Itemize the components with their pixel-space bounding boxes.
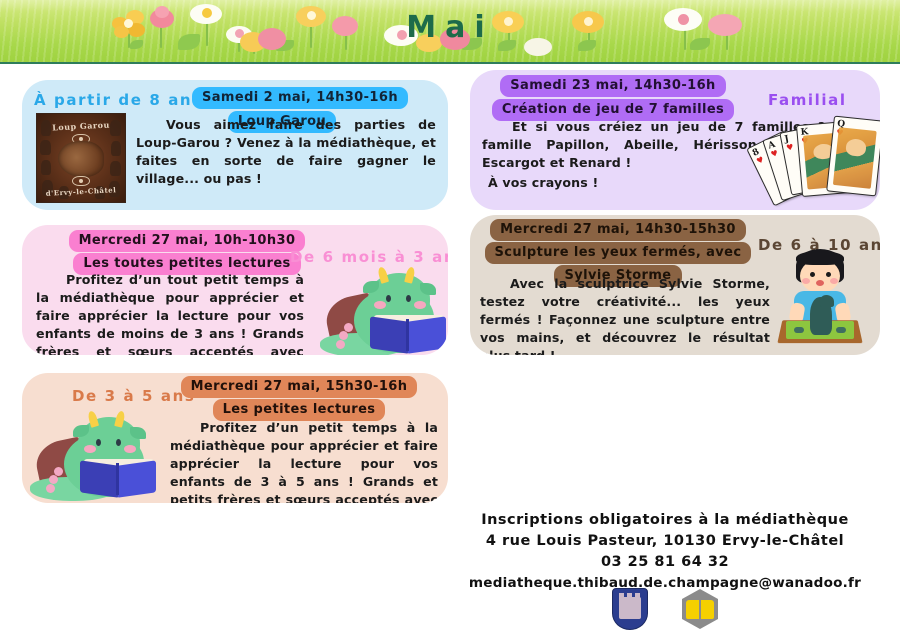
open-book-logo-icon <box>682 589 718 629</box>
loup-garou-box-image: Loup Garou d'Ervy-le-Châtel <box>36 113 126 203</box>
event-description: Profitez d’un tout petit temps à la médi… <box>36 271 304 355</box>
footer-line-registration: Inscriptions obligatoires à la médiathèq… <box>430 510 900 531</box>
heart-icon: ♥ <box>786 142 795 152</box>
page-title: Mai <box>0 10 900 45</box>
footer-line-address: 4 rue Louis Pasteur, 10130 Ervy-le-Châte… <box>430 531 900 552</box>
footer-contact: Inscriptions obligatoires à la médiathèq… <box>430 510 900 594</box>
event-badge: Samedi 23 mai, 14h30-16h Création de jeu… <box>478 74 748 122</box>
age-label: Familial <box>768 91 847 109</box>
event-card-loup-garou[interactable]: À partir de 8 ans Samedi 2 mai, 14h30-16… <box>22 80 448 210</box>
event-card-jeu-7-familles[interactable]: Samedi 23 mai, 14h30-16h Création de jeu… <box>470 70 880 210</box>
banner-bottom-rule <box>0 62 900 64</box>
event-date-badge: Mercredi 27 mai, 15h30-16h <box>181 376 418 398</box>
event-card-sculpture[interactable]: Mercredi 27 mai, 14h30-15h30 Sculpture l… <box>470 215 880 355</box>
event-description-extra: À vos crayons ! <box>488 174 718 192</box>
event-badge: Mercredi 27 mai, 10h-10h30 Les toutes pe… <box>57 229 317 275</box>
heart-icon: ♥ <box>770 148 780 159</box>
event-card-petites-lectures[interactable]: De 3 à 5 ans Mercredi 27 mai, 15h30-16h … <box>22 373 448 503</box>
heart-icon: ♥ <box>755 155 765 166</box>
event-title-badge: Sculpture les yeux fermés, avec <box>485 242 752 264</box>
footer-logos <box>430 588 900 630</box>
event-card-toutes-petites-lectures[interactable]: Mercredi 27 mai, 10h-10h30 Les toutes pe… <box>22 225 448 355</box>
age-label: À partir de 8 ans <box>34 91 203 109</box>
event-title-badge: Les petites lectures <box>213 399 386 421</box>
event-date-badge: Samedi 2 mai, 14h30-16h <box>192 87 408 109</box>
event-description: Avec la sculptrice Sylvie Storme, testez… <box>480 275 770 355</box>
playing-cards-image: 8 ♥ A ♥ J ♥ K ♥ Q ♥ <box>758 112 878 207</box>
event-badge: Mercredi 27 mai, 15h30-16h Les petites l… <box>174 375 424 421</box>
coat-of-arms-logo-icon <box>612 588 648 630</box>
header-banner: Mai <box>0 0 900 64</box>
event-date-badge: Samedi 23 mai, 14h30-16h <box>500 75 725 97</box>
age-label: De 6 mois à 3 ans <box>290 248 448 266</box>
event-date-badge: Mercredi 27 mai, 14h30-15h30 <box>490 219 746 241</box>
event-description: Vous aimez faire des parties de Loup-Gar… <box>136 116 436 188</box>
event-description: Profitez d’un petit temps à la médiathèq… <box>170 419 438 503</box>
dragon-reading-image <box>318 267 448 355</box>
footer-line-phone: 03 25 81 64 32 <box>430 552 900 573</box>
boy-sculptor-image <box>770 247 870 347</box>
event-date-badge: Mercredi 27 mai, 10h-10h30 <box>69 230 306 252</box>
dragon-reading-image <box>28 411 174 503</box>
